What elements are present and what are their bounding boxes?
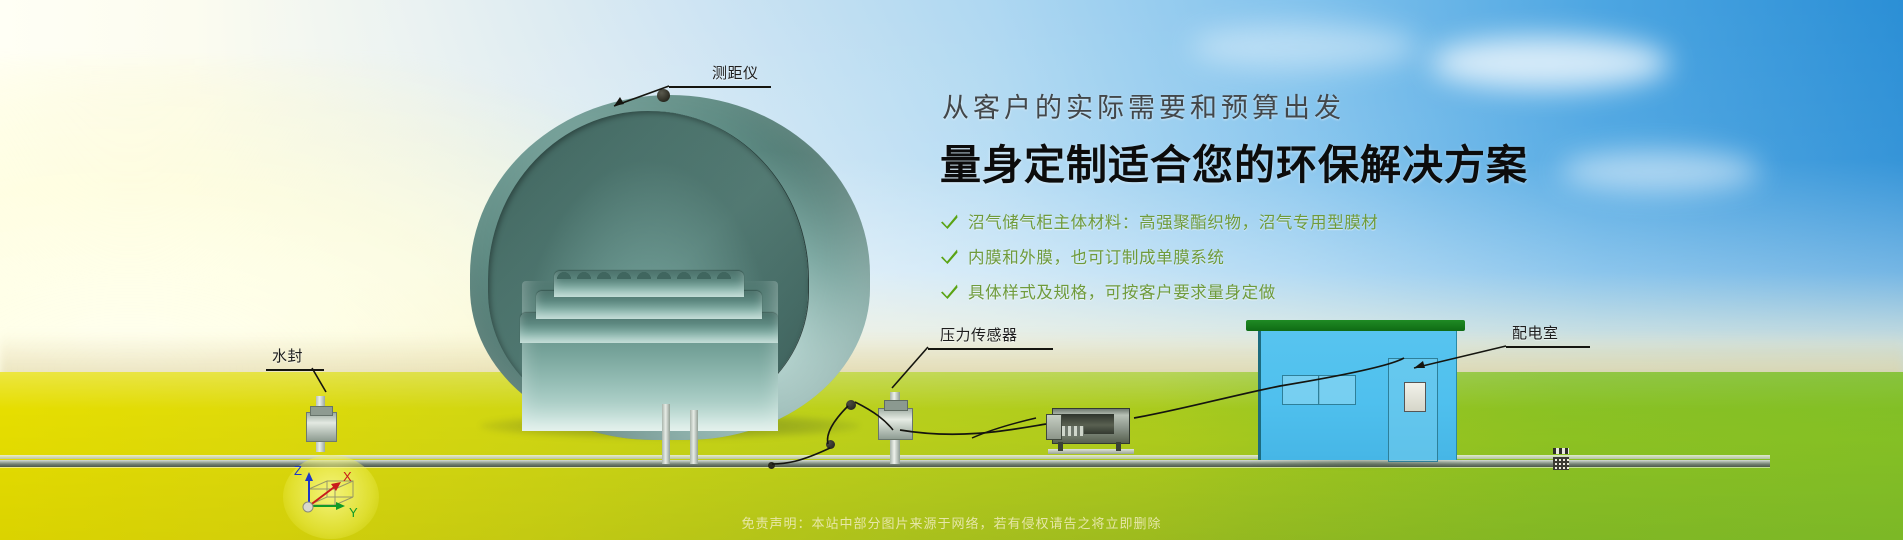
pipe-junction-node bbox=[768, 462, 775, 469]
water-seal-body bbox=[306, 412, 337, 442]
leader-line-rangefinder bbox=[669, 86, 771, 88]
gas-riser-pipe bbox=[690, 410, 698, 464]
membrane-ripple-edge bbox=[556, 267, 742, 279]
feature-bullet-list: 沼气储气柜主体材料：高强聚酯织物，沼气专用型膜材 内膜和外膜，也可订制成单膜系统… bbox=[940, 209, 1640, 303]
check-icon bbox=[940, 247, 959, 266]
pressure-sensor-node bbox=[826, 440, 835, 449]
leader-arrow-pressure-sensor bbox=[880, 344, 940, 404]
callout-pressure-sensor: 压力传感器 bbox=[940, 324, 1018, 345]
bullet-label: 具体样式及规格，可按客户要求量身定做 bbox=[968, 279, 1276, 303]
cloud bbox=[1190, 24, 1420, 70]
leader-arrow-water-seal bbox=[310, 366, 344, 400]
gizmo-z-label: Z bbox=[294, 463, 302, 478]
valve-body bbox=[878, 408, 913, 440]
callout-rangefinder: 测距仪 bbox=[712, 62, 759, 83]
bullet-label: 沼气储气柜主体材料：高强聚酯织物，沼气专用型膜材 bbox=[968, 209, 1378, 233]
gas-riser-pipe bbox=[662, 404, 670, 464]
callout-water-seal: 水封 bbox=[272, 345, 303, 366]
list-item: 具体样式及规格，可按客户要求量身定做 bbox=[940, 279, 1640, 303]
marketing-copy: 从客户的实际需要和预算出发 量身定制适合您的环保解决方案 沼气储气柜主体材料：高… bbox=[940, 86, 1640, 314]
leader-line-power-room bbox=[1506, 346, 1590, 348]
skid-filter-unit bbox=[1046, 414, 1062, 440]
room-window bbox=[1282, 375, 1320, 405]
bullet-label: 内膜和外膜，也可订制成单膜系统 bbox=[968, 244, 1225, 268]
gas-holder-dome bbox=[470, 95, 870, 440]
skid-leg bbox=[1116, 442, 1121, 451]
callout-power-distribution-room: 配电室 bbox=[1512, 322, 1559, 343]
check-icon bbox=[940, 212, 959, 231]
check-icon bbox=[940, 282, 959, 301]
leader-arrow-rangefinder bbox=[600, 84, 680, 118]
list-item: 沼气储气柜主体材料：高强聚酯织物，沼气专用型膜材 bbox=[940, 209, 1640, 233]
room-window bbox=[1318, 375, 1356, 405]
control-panel-keypad bbox=[1553, 457, 1569, 470]
leader-line-pressure-sensor bbox=[928, 348, 1053, 350]
hero-banner: 测距仪 水封 压力传感器 配电室 bbox=[0, 0, 1903, 540]
pipeline-highlight bbox=[0, 455, 1770, 459]
blower-compressor-skid bbox=[1046, 404, 1134, 450]
leader-arrow-power-room bbox=[1400, 340, 1510, 388]
control-panel-display bbox=[1553, 448, 1569, 454]
main-pipeline bbox=[0, 460, 1770, 467]
disclaimer-text: 免责声明：本站中部分图片来源于网络，若有侵权请告之将立即删除 bbox=[0, 513, 1903, 532]
list-item: 内膜和外膜，也可订制成单膜系统 bbox=[940, 244, 1640, 268]
cloud bbox=[1430, 36, 1670, 90]
room-roof bbox=[1246, 320, 1465, 331]
skid-leg bbox=[1058, 442, 1063, 451]
gizmo-x-label: X bbox=[343, 469, 352, 484]
subheadline: 从客户的实际需要和预算出发 bbox=[942, 86, 1640, 125]
pressure-sensor-device bbox=[846, 400, 856, 410]
water-seal-cap bbox=[310, 406, 333, 416]
headline: 量身定制适合您的环保解决方案 bbox=[940, 131, 1640, 191]
